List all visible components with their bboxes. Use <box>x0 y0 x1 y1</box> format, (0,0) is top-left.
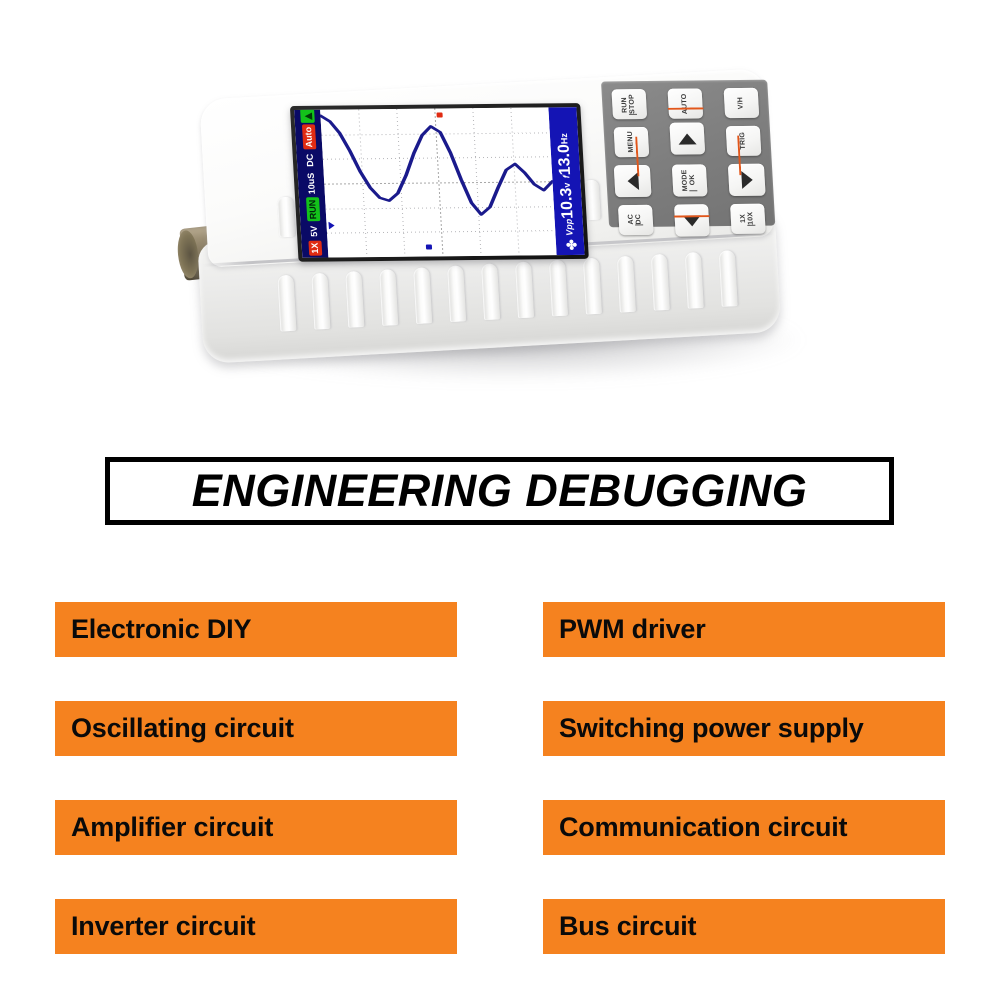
freq-label: f <box>561 175 571 178</box>
vpp-unit: v <box>561 183 571 188</box>
feature-tag: Switching power supply <box>543 701 945 756</box>
dc-label: DC <box>635 214 643 226</box>
product-feature-page: 1X 5V RUN 10uS DC Auto ▶ <box>0 0 1000 1000</box>
feature-tag: Oscillating circuit <box>55 701 457 756</box>
grip-ridge <box>345 271 364 328</box>
grip-ridge <box>277 197 295 238</box>
menu-button[interactable]: MENU <box>614 127 650 157</box>
feature-tag-label: Communication circuit <box>559 812 847 843</box>
ground-level-marker <box>329 222 335 230</box>
arrow-up-icon <box>678 133 697 144</box>
vpp-value: 10.3 <box>557 188 576 219</box>
run-stop-label-bottom: STOP <box>629 94 638 115</box>
section-title-box: ENGINEERING DEBUGGING <box>105 457 894 525</box>
trig-label: TRIG <box>739 132 748 150</box>
vpp-label: Vpp <box>563 219 574 236</box>
auto-button[interactable]: AUTO <box>668 88 704 118</box>
grip-ridge <box>515 261 534 318</box>
time-position-marker <box>426 245 432 250</box>
arrow-right-icon <box>741 171 753 189</box>
oscilloscope-device: 1X 5V RUN 10uS DC Auto ▶ <box>171 61 796 375</box>
menu-label: MENU <box>627 131 636 152</box>
feature-tag: Amplifier circuit <box>55 800 457 855</box>
feature-tag-label: Oscillating circuit <box>71 713 294 744</box>
grip-ridge <box>685 252 704 309</box>
feature-tag-label: Bus circuit <box>559 911 696 942</box>
page-title: ENGINEERING DEBUGGING <box>192 465 808 517</box>
status-probe-ratio: 1X <box>308 241 322 256</box>
ok-label: OK <box>689 170 698 192</box>
ac-dc-button[interactable]: ACDC <box>618 205 654 235</box>
move-cursor-icon: ✤ <box>562 236 578 251</box>
grip-ridge <box>481 263 500 320</box>
grip-ridge <box>311 273 330 330</box>
screen-bezel: 1X 5V RUN 10uS DC Auto ▶ <box>290 103 589 262</box>
run-stop-button[interactable]: RUNSTOP <box>611 89 647 119</box>
mode-ok-button[interactable]: MODEOK <box>672 164 708 196</box>
probe-x-button[interactable]: 1X10X <box>730 204 766 234</box>
down-button[interactable] <box>674 204 710 236</box>
measurement-readout: Vpp10.3v f13.0Hz <box>555 133 578 236</box>
feature-tag-grid: Electronic DIY PWM driver Oscillating ci… <box>55 602 945 954</box>
trigger-level-marker <box>437 113 443 118</box>
feature-tag-label: Electronic DIY <box>71 614 251 645</box>
grip-ridge <box>549 260 568 317</box>
right-button[interactable] <box>728 164 766 196</box>
feature-tag-label: Amplifier circuit <box>71 812 273 843</box>
status-volts-div: 5V <box>307 224 321 239</box>
device-keypad: RUNSTOP AUTO V/H MENU TRIG <box>601 80 775 228</box>
freq-unit: Hz <box>558 133 569 144</box>
grip-ridge <box>277 275 296 332</box>
status-coupling: DC <box>303 152 317 169</box>
product-photo: 1X 5V RUN 10uS DC Auto ▶ <box>0 0 1000 420</box>
auto-label: AUTO <box>681 93 690 114</box>
feature-tag: Bus circuit <box>543 899 945 954</box>
feature-tag: PWM driver <box>543 602 945 657</box>
trig-button[interactable]: TRIG <box>726 126 762 156</box>
feature-tag-label: Inverter circuit <box>71 911 255 942</box>
left-button[interactable] <box>614 165 652 197</box>
grip-ridge <box>651 254 670 311</box>
feature-tag: Communication circuit <box>543 800 945 855</box>
status-run-state: RUN <box>306 198 320 222</box>
v-h-label: V/H <box>737 97 745 109</box>
arrow-left-icon <box>627 172 639 190</box>
waveform-plot <box>320 107 556 257</box>
grip-ridge <box>617 256 636 313</box>
up-button[interactable] <box>669 122 705 154</box>
grip-ridge <box>447 265 466 322</box>
probe-10x-label: 10X <box>748 212 756 226</box>
arrow-down-icon <box>683 215 702 226</box>
feature-tag-label: PWM driver <box>559 614 706 645</box>
grip-ridge <box>719 250 738 307</box>
status-trigger-mode: Auto <box>301 125 315 150</box>
trigger-edge-icon: ▶ <box>300 109 315 123</box>
oscilloscope-screen[interactable]: 1X 5V RUN 10uS DC Auto ▶ <box>294 107 585 258</box>
v-h-button[interactable]: V/H <box>724 88 760 118</box>
feature-tag: Inverter circuit <box>55 899 457 954</box>
grip-ridge <box>583 258 602 315</box>
grip-ridge <box>379 269 398 326</box>
status-time-div: 10uS <box>304 171 318 197</box>
waveform-trace <box>320 107 556 257</box>
feature-tag: Electronic DIY <box>55 602 457 657</box>
grip-ridge <box>413 267 432 324</box>
feature-tag-label: Switching power supply <box>559 713 864 744</box>
freq-value: 13.0 <box>555 144 574 175</box>
